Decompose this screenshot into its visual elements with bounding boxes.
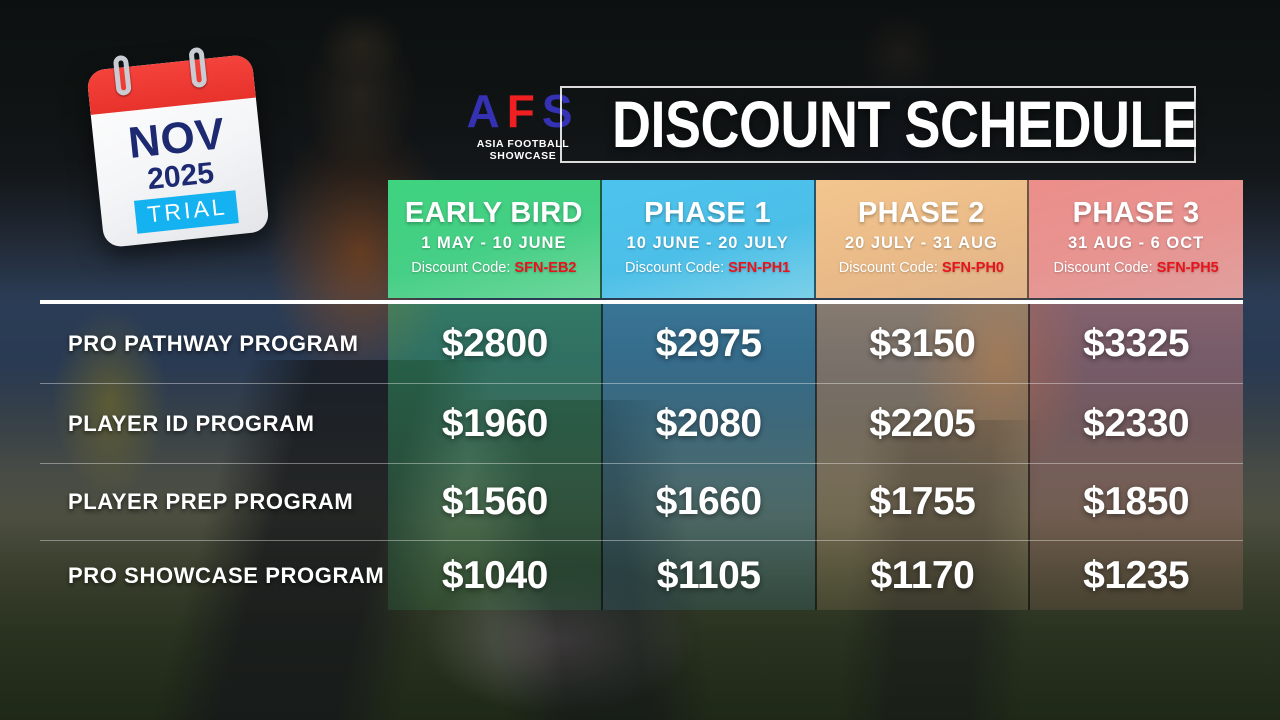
table-row: PRO SHOWCASE PROGRAM $1040 $1105 $1170 $… bbox=[40, 541, 1243, 610]
program-label: PLAYER ID PROGRAM bbox=[40, 410, 388, 438]
price-cell: $1850 bbox=[1029, 480, 1243, 524]
code-value: SFN-PH0 bbox=[942, 260, 1004, 276]
program-label: PRO SHOWCASE PROGRAM bbox=[40, 562, 388, 590]
price-cell: $2080 bbox=[602, 402, 816, 446]
price-cell: $2330 bbox=[1029, 402, 1243, 446]
phase-discount-code: Discount Code: SFN-PH1 bbox=[602, 260, 814, 276]
code-label: Discount Code: bbox=[1054, 260, 1153, 276]
price-cell: $1560 bbox=[388, 480, 602, 524]
code-label: Discount Code: bbox=[411, 260, 510, 276]
phase-header-early-bird: EARLY BIRD 1 MAY - 10 JUNE Discount Code… bbox=[388, 180, 602, 298]
price-cell: $1960 bbox=[388, 402, 602, 446]
phase-name: EARLY BIRD bbox=[388, 198, 600, 228]
phase-name: PHASE 2 bbox=[816, 198, 1028, 228]
phase-discount-code: Discount Code: SFN-PH0 bbox=[816, 260, 1028, 276]
price-cell: $2205 bbox=[816, 402, 1030, 446]
phase-discount-code: Discount Code: SFN-PH5 bbox=[1029, 260, 1243, 276]
phase-name: PHASE 1 bbox=[602, 198, 814, 228]
program-label: PLAYER PREP PROGRAM bbox=[40, 488, 388, 516]
price-cell: $1660 bbox=[602, 480, 816, 524]
code-value: SFN-PH1 bbox=[728, 260, 790, 276]
code-label: Discount Code: bbox=[839, 260, 938, 276]
price-cell: $1040 bbox=[388, 554, 602, 598]
price-cell: $2800 bbox=[388, 322, 602, 366]
page-title: DISCOUNT SCHEDULE bbox=[612, 78, 1198, 172]
phase-dates: 10 JUNE - 20 JULY bbox=[602, 234, 814, 253]
price-cell: $1235 bbox=[1029, 554, 1243, 598]
phase-discount-code: Discount Code: SFN-EB2 bbox=[388, 260, 600, 276]
code-value: SFN-EB2 bbox=[514, 260, 576, 276]
phase-name: PHASE 3 bbox=[1029, 198, 1243, 228]
price-cell: $1170 bbox=[816, 554, 1030, 598]
code-value: SFN-PH5 bbox=[1157, 260, 1219, 276]
phase-dates: 31 AUG - 6 OCT bbox=[1029, 234, 1243, 253]
phase-dates: 1 MAY - 10 JUNE bbox=[388, 234, 600, 253]
price-cell: $1105 bbox=[602, 554, 816, 598]
phase-header-phase-1: PHASE 1 10 JUNE - 20 JULY Discount Code:… bbox=[602, 180, 816, 298]
program-label: PRO PATHWAY PROGRAM bbox=[40, 330, 388, 358]
price-cell: $3150 bbox=[816, 322, 1030, 366]
afs-logo-letter-f: F bbox=[507, 85, 542, 137]
phase-dates: 20 JULY - 31 AUG bbox=[816, 234, 1028, 253]
discount-schedule-table: EARLY BIRD 1 MAY - 10 JUNE Discount Code… bbox=[40, 180, 1243, 610]
table-row: PRO PATHWAY PROGRAM $2800 $2975 $3150 $3… bbox=[40, 304, 1243, 384]
phase-header-phase-3: PHASE 3 31 AUG - 6 OCT Discount Code: SF… bbox=[1029, 180, 1243, 298]
table-header-row: EARLY BIRD 1 MAY - 10 JUNE Discount Code… bbox=[388, 180, 1243, 298]
price-cell: $2975 bbox=[602, 322, 816, 366]
table-body: PRO PATHWAY PROGRAM $2800 $2975 $3150 $3… bbox=[40, 304, 1243, 610]
phase-header-phase-2: PHASE 2 20 JULY - 31 AUG Discount Code: … bbox=[816, 180, 1030, 298]
table-row: PLAYER ID PROGRAM $1960 $2080 $2205 $233… bbox=[40, 384, 1243, 464]
price-cell: $3325 bbox=[1029, 322, 1243, 366]
afs-logo-letter-a: A bbox=[466, 85, 506, 137]
poster-canvas: NOV 2025 TRIAL AFS ASIA FOOTBALL SHOWCAS… bbox=[0, 0, 1280, 720]
table-row: PLAYER PREP PROGRAM $1560 $1660 $1755 $1… bbox=[40, 464, 1243, 541]
code-label: Discount Code: bbox=[625, 260, 724, 276]
price-cell: $1755 bbox=[816, 480, 1030, 524]
